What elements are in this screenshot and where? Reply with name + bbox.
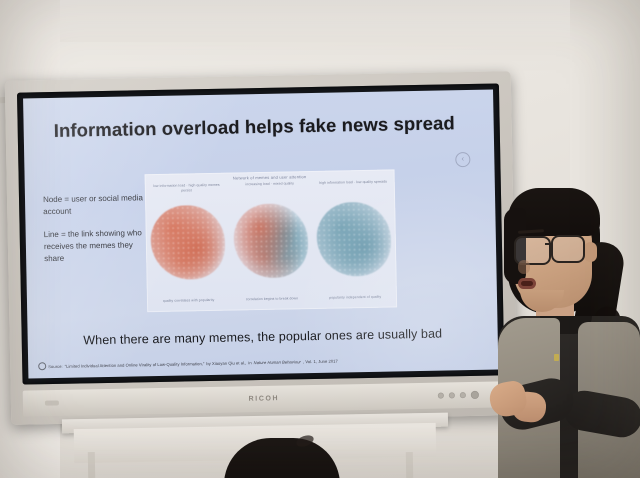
presenter-mouth-interior <box>521 281 533 286</box>
figure-panel-high-load: high information load · low quality spre… <box>311 169 397 309</box>
display-brand-logo: RICOH <box>249 395 280 403</box>
presenter-person <box>474 186 640 478</box>
ir-sensor <box>45 400 59 405</box>
network-cluster-mixed <box>233 203 308 278</box>
slide-source-citation: Source: “Limited Individual Attention an… <box>38 354 488 371</box>
control-button-menu[interactable] <box>438 393 444 399</box>
presenter-mouth <box>518 278 536 289</box>
panel-top-label: low information load · high quality meme… <box>150 183 224 194</box>
source-author: by Xiaoyan Qiu et al., <box>206 360 246 366</box>
display-inner-frame: Information overload helps fake news spr… <box>17 83 505 384</box>
presentation-slide: Information overload helps fake news spr… <box>23 90 498 379</box>
slide-caption: When there are many memes, the popular o… <box>28 325 498 348</box>
panel-top-label: increasing load · mixed quality <box>233 181 306 187</box>
source-journal: Nature Human Behaviour <box>254 359 301 365</box>
display-cart-leg-left <box>88 452 95 478</box>
side-note-node: Node = user or social media account <box>43 192 147 218</box>
panel-top-label: high information load · low quality spre… <box>316 180 389 186</box>
figure-panel-mid-load: increasing load · mixed quality correlat… <box>228 171 314 311</box>
source-quote: “Limited Individual Attention and Online… <box>65 361 205 369</box>
figure-panel-low-load: low information load · high quality meme… <box>145 173 231 313</box>
presentation-scene: Information overload helps fake news spr… <box>0 0 640 478</box>
presenter-glasses-right-lens <box>551 235 585 263</box>
panel-bottom-label: quality correlates with popularity <box>152 298 225 304</box>
side-note-line: Line = the link showing who receives the… <box>44 227 149 265</box>
panel-bottom-label: popularity independent of quality <box>319 294 392 300</box>
network-nodes <box>233 203 308 278</box>
network-nodes <box>150 205 225 280</box>
source-volume: , Vol. 1, June 2017 <box>303 358 338 364</box>
source-in: in <box>248 360 251 365</box>
display-cart-leg-right <box>406 452 413 478</box>
network-nodes <box>316 202 391 277</box>
display-control-buttons[interactable] <box>438 391 479 400</box>
network-cluster-teal <box>316 202 391 277</box>
ceiling <box>0 0 640 42</box>
network-figure: Network of memes and user attention low … <box>145 169 398 312</box>
control-button-input[interactable] <box>449 392 455 398</box>
source-prefix: Source: <box>48 363 63 368</box>
slide-side-notes: Node = user or social media account Line… <box>43 192 149 276</box>
network-cluster-red <box>150 205 225 280</box>
source-marker-icon <box>38 362 46 370</box>
panel-bottom-label: correlation begins to break down <box>235 296 308 302</box>
presenter-glasses-bridge <box>545 243 553 245</box>
control-button-volume[interactable] <box>460 392 466 398</box>
slide-back-arrow-icon[interactable]: ‹ <box>455 152 470 167</box>
interactive-whiteboard-display[interactable]: Information overload helps fake news spr… <box>5 71 518 425</box>
presenter-ear <box>584 242 597 262</box>
display-screen[interactable]: Information overload helps fake news spr… <box>23 90 498 379</box>
presenter-nose <box>518 260 530 274</box>
slide-title: Information overload helps fake news spr… <box>54 112 455 142</box>
presenter-badge <box>554 354 559 361</box>
